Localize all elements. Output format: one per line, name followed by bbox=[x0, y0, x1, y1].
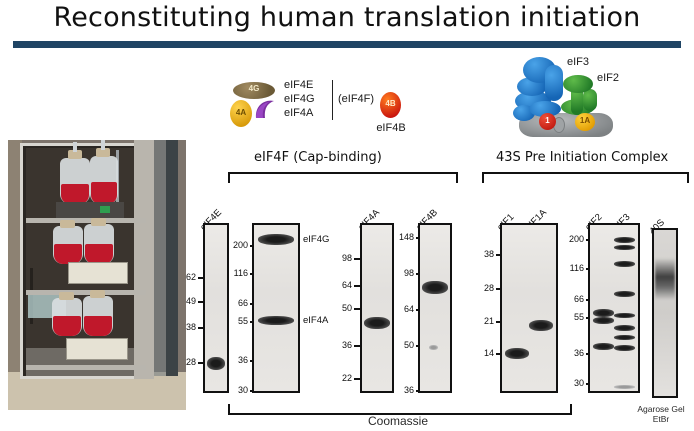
gel-band bbox=[614, 335, 635, 340]
mw-marker: 36 bbox=[388, 385, 414, 395]
gel-band bbox=[614, 245, 635, 250]
mw-marker: 116 bbox=[222, 268, 248, 278]
gel-band bbox=[593, 309, 614, 317]
section-title-43s: 43S Pre Initiation Complex bbox=[496, 150, 668, 165]
eif4a-label: eIF4A bbox=[284, 107, 313, 119]
eif4f-cartoon: 4G 4A eIF4E eIF4G eIF4A (eIF4F) 4B eIF4B bbox=[228, 78, 398, 138]
gel-band bbox=[614, 345, 635, 351]
mw-marker: 36 bbox=[330, 340, 352, 350]
eif4a-shape-label: 4A bbox=[230, 108, 252, 117]
gel-40s-agarose bbox=[652, 228, 678, 398]
band-label-eif4a: eIF4A bbox=[303, 315, 328, 326]
gel-band bbox=[529, 320, 553, 331]
eif4b-shape-label: 4B bbox=[380, 99, 401, 108]
mw-marker: 36 bbox=[222, 355, 248, 365]
eif2-label: eIF2 bbox=[597, 72, 619, 84]
gel-band bbox=[364, 317, 389, 329]
mw-marker: 116 bbox=[558, 263, 584, 273]
mw-marker: 64 bbox=[330, 280, 352, 290]
eif4g-label: eIF4G bbox=[284, 93, 315, 105]
coomassie-caption: Coomassie bbox=[228, 414, 568, 428]
mw-marker: 38 bbox=[472, 249, 494, 259]
gel-band bbox=[422, 281, 447, 294]
eif3-lobe-icon bbox=[545, 65, 563, 101]
gel-band bbox=[505, 348, 529, 359]
slide-root: Reconstituting human translation initiat… bbox=[0, 0, 694, 431]
gel-eif1-eif1a bbox=[500, 223, 558, 393]
mw-marker: 30 bbox=[222, 385, 248, 395]
mw-marker: 14 bbox=[472, 348, 494, 358]
gel-band-faint bbox=[614, 385, 635, 389]
mw-marker: 30 bbox=[558, 378, 584, 388]
gel-band bbox=[614, 261, 635, 267]
gel-band bbox=[614, 313, 635, 318]
gel-band-faint bbox=[429, 345, 438, 350]
mw-marker: 62 bbox=[174, 272, 196, 282]
eif4b-label: eIF4B bbox=[370, 122, 412, 134]
mw-marker: 28 bbox=[472, 283, 494, 293]
mw-marker: 64 bbox=[388, 304, 414, 314]
43s-complex-cartoon: eIF3 eIF2 1 1A bbox=[505, 55, 691, 145]
eif2-lobe-icon bbox=[563, 75, 593, 93]
gel-eif4g-eif4a bbox=[252, 223, 300, 393]
eif4f-complex-label: (eIF4F) bbox=[338, 93, 374, 105]
eif1a-circle-label: 1A bbox=[575, 116, 595, 125]
gel-band bbox=[258, 234, 295, 245]
gel-band bbox=[614, 237, 635, 243]
mw-marker: 200 bbox=[558, 234, 584, 244]
mw-marker: 36 bbox=[558, 348, 584, 358]
eif3-label: eIF3 bbox=[567, 56, 589, 68]
title-divider bbox=[13, 41, 681, 48]
band-label-eif4g: eIF4G bbox=[303, 234, 329, 245]
mw-marker: 148 bbox=[388, 232, 414, 242]
mw-marker: 66 bbox=[558, 294, 584, 304]
eif4e-label: eIF4E bbox=[284, 79, 313, 91]
mw-marker: 200 bbox=[222, 240, 248, 250]
gel-band bbox=[258, 316, 295, 325]
mw-marker: 55 bbox=[222, 316, 248, 326]
gel-band bbox=[614, 291, 635, 297]
mw-marker: 50 bbox=[388, 340, 414, 350]
mw-marker: 38 bbox=[174, 322, 196, 332]
gel-band bbox=[614, 325, 635, 331]
gel-band bbox=[593, 317, 614, 324]
eif4e-crescent-icon bbox=[254, 98, 276, 120]
gel-eif2-eif3 bbox=[588, 223, 640, 393]
eif4g-shape-label: 4G bbox=[233, 84, 275, 93]
rrna-smear bbox=[655, 258, 675, 300]
mw-marker: 49 bbox=[174, 296, 196, 306]
mw-marker: 98 bbox=[388, 268, 414, 278]
gel-band bbox=[593, 343, 614, 350]
eif1-circle-label: 1 bbox=[539, 116, 556, 125]
mw-marker: 22 bbox=[330, 373, 352, 383]
mw-marker: 66 bbox=[222, 298, 248, 308]
grouping-bar bbox=[332, 80, 333, 120]
bracket-43s bbox=[482, 172, 689, 183]
cell-culture-incubator-photo bbox=[8, 140, 186, 410]
eif2-lobe-icon bbox=[583, 89, 597, 111]
mw-marker: 55 bbox=[558, 312, 584, 322]
mw-marker: 21 bbox=[472, 316, 494, 326]
page-title: Reconstituting human translation initiat… bbox=[0, 2, 694, 33]
agarose-caption-line1: Agarose Gel bbox=[637, 404, 684, 414]
agarose-caption: Agarose Gel EtBr bbox=[629, 404, 693, 424]
section-title-eif4f: eIF4F (Cap-binding) bbox=[254, 150, 382, 165]
agarose-caption-line2: EtBr bbox=[653, 414, 670, 424]
bracket-eif4f bbox=[228, 172, 458, 183]
mw-marker: 98 bbox=[330, 253, 352, 263]
gel-eif4b bbox=[418, 223, 452, 393]
mw-marker: 28 bbox=[174, 357, 196, 367]
mw-marker: 50 bbox=[330, 303, 352, 313]
